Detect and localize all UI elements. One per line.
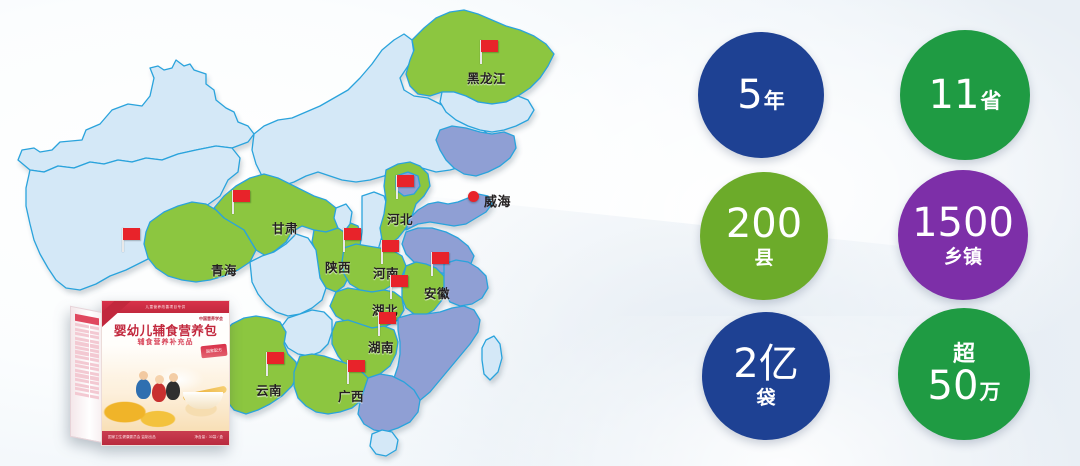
flag-icon xyxy=(480,40,502,64)
province-label: 广西 xyxy=(338,386,364,405)
stat-value: 50 万 xyxy=(928,366,1001,406)
flag-icon xyxy=(347,360,369,384)
package-bottom-left-text: 国家卫生健康委员会 监制出品 xyxy=(108,435,156,440)
province-label: 云南 xyxy=(256,380,282,399)
province-label: 安徽 xyxy=(424,283,450,302)
stat-number: 1500 xyxy=(912,203,1014,243)
city-label: 威海 xyxy=(484,191,511,210)
province-shape-hainan xyxy=(370,430,398,456)
flag-icon xyxy=(381,240,403,264)
stat-bubble-counties[interactable]: 200 县 xyxy=(700,172,828,300)
bowl-icon xyxy=(183,392,223,409)
stat-unit: 乡镇 xyxy=(944,248,982,267)
city-dot-icon xyxy=(468,191,479,202)
stat-value: 200 xyxy=(726,204,802,244)
stat-bubble-provinces[interactable]: 11 省 xyxy=(900,30,1030,160)
flag-icon xyxy=(232,190,254,214)
package-bottom-right-text: 净含量：30袋 / 盒 xyxy=(194,435,223,440)
province-shape-taiwan xyxy=(482,336,502,380)
child-figure xyxy=(136,379,151,399)
flag-icon xyxy=(378,312,400,336)
province-shape-guizhou xyxy=(282,310,332,356)
stat-number: 200 xyxy=(726,204,802,244)
stat-unit: 年 xyxy=(764,91,785,112)
stat-unit: 万 xyxy=(979,382,1000,403)
flag-icon xyxy=(266,352,288,376)
package-side-panel xyxy=(70,306,102,443)
stat-bubble-children[interactable]: 超 50 万 xyxy=(898,308,1030,440)
flag-icon xyxy=(431,252,453,276)
child-figure xyxy=(166,381,180,400)
stat-number: 2亿 xyxy=(733,344,798,384)
flag-icon xyxy=(122,228,144,252)
stat-unit: 袋 xyxy=(756,389,775,408)
province-label: 陕西 xyxy=(325,257,351,276)
stat-prefix: 超 xyxy=(953,343,975,365)
statistics-panel: 5 年 11 省 200 县 1500 乡镇 2亿 袋 xyxy=(690,18,1060,448)
stat-value: 5 年 xyxy=(737,75,784,115)
province-label: 黑龙江 xyxy=(467,68,506,87)
province-label: 河北 xyxy=(387,209,413,228)
stat-bubble-townships[interactable]: 1500 乡镇 xyxy=(898,170,1028,300)
child-figure xyxy=(152,383,166,402)
package-bottom-banner: 国家卫生健康委员会 监制出品 净含量：30袋 / 盒 xyxy=(102,431,229,445)
stat-number: 11 xyxy=(929,75,980,115)
flag-icon xyxy=(343,228,365,252)
product-package-image: 儿童营养改善项目专供 中国营养学会 婴幼儿辅食营养包 辅食营养补充品 国家配方 … xyxy=(70,300,230,450)
stat-number: 50 xyxy=(928,366,979,406)
nutrition-table xyxy=(75,314,99,401)
stat-number: 5 xyxy=(737,75,762,115)
stat-bubble-years[interactable]: 5 年 xyxy=(698,32,824,158)
stat-bubble-bags[interactable]: 2亿 袋 xyxy=(702,312,830,440)
stat-value: 1500 xyxy=(912,203,1014,243)
stat-unit: 县 xyxy=(754,249,773,268)
package-illustration xyxy=(102,345,229,431)
slide-canvas: 黑龙江 甘肃 青海 陕西 河北 河南 安徽 湖北 xyxy=(0,0,1080,466)
province-label: 青海 xyxy=(211,260,237,279)
flag-icon xyxy=(390,275,412,299)
province-label: 湖南 xyxy=(368,337,394,356)
stat-value: 2亿 xyxy=(733,344,798,384)
stat-unit: 省 xyxy=(980,91,1001,112)
flag-icon xyxy=(396,175,418,199)
province-label: 甘肃 xyxy=(272,218,298,237)
stat-value: 11 省 xyxy=(929,75,1002,115)
package-front-panel: 儿童营养改善项目专供 中国营养学会 婴幼儿辅食营养包 辅食营养补充品 国家配方 … xyxy=(101,300,230,446)
